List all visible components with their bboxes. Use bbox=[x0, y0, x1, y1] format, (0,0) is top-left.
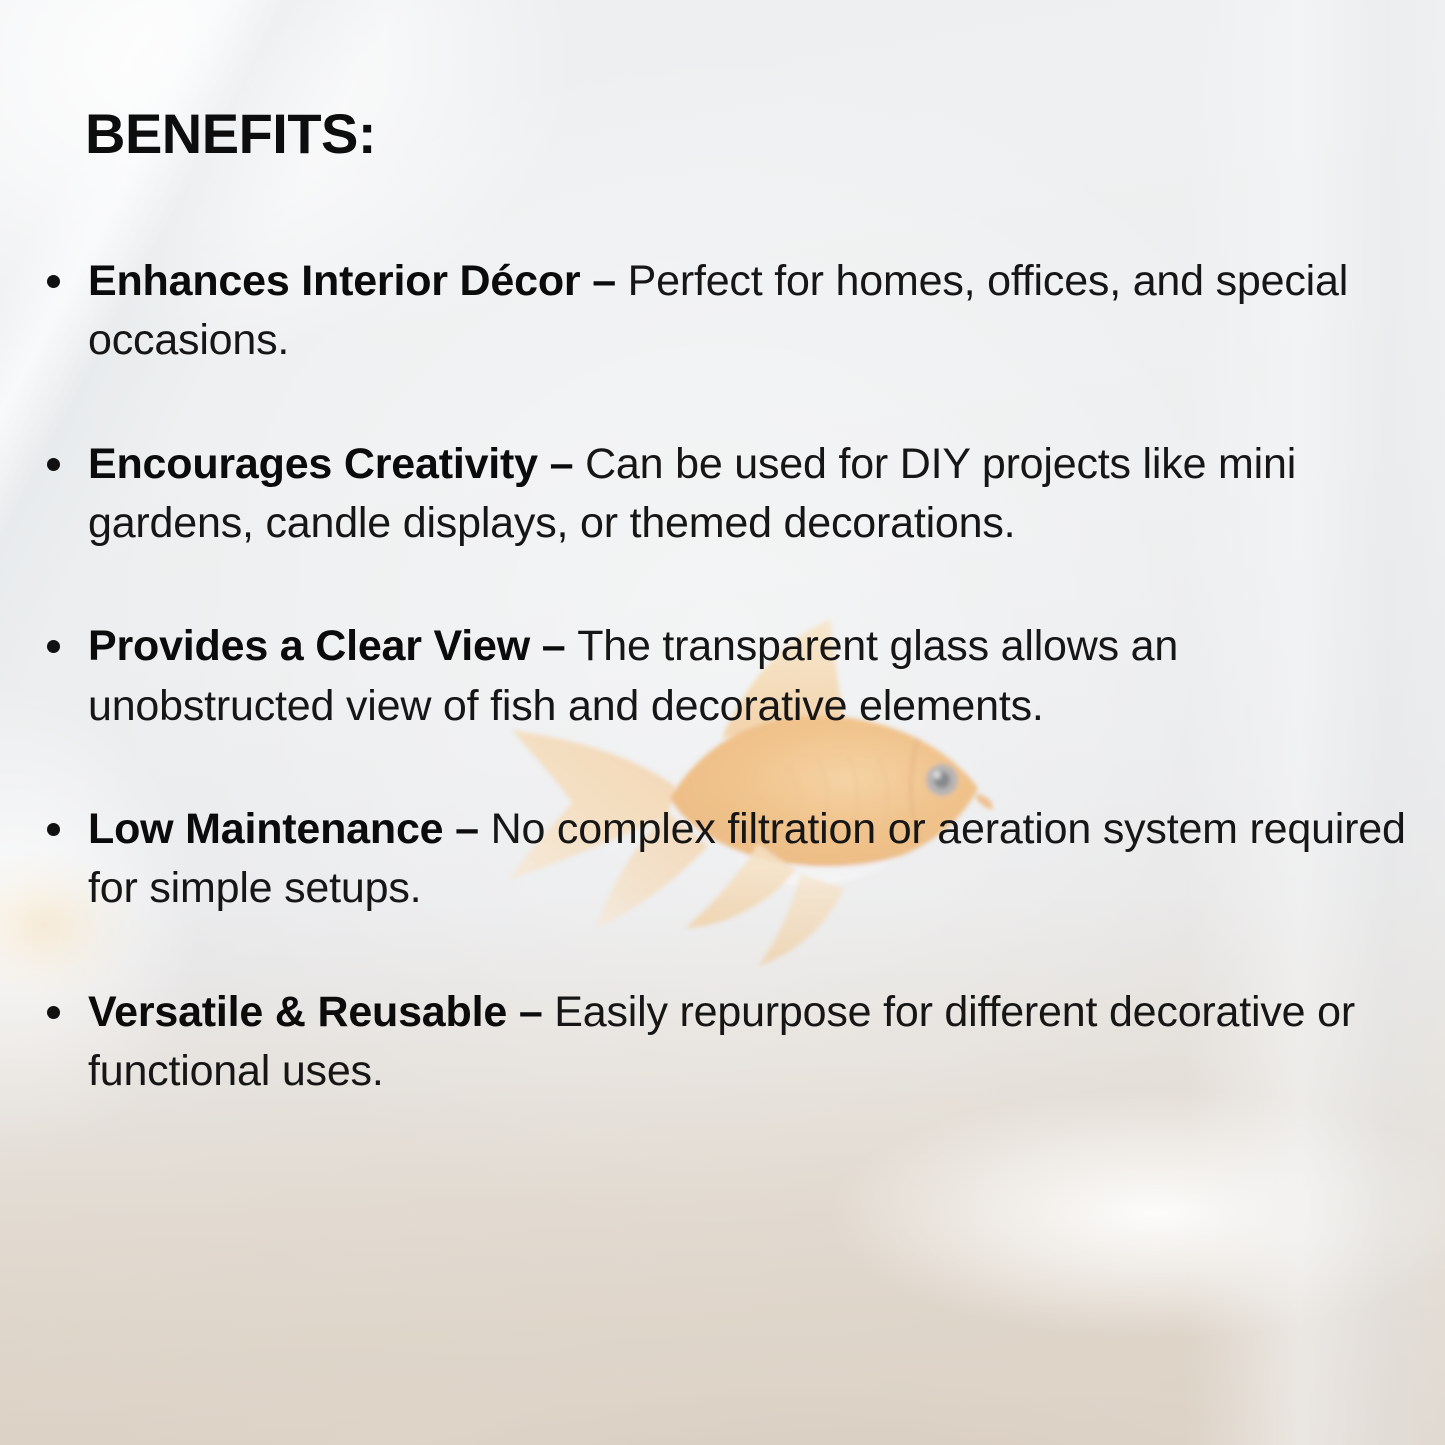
list-item: Enhances Interior Décor – Perfect for ho… bbox=[44, 252, 1424, 371]
benefit-lead: Provides a Clear View bbox=[88, 622, 542, 670]
benefit-dash: – bbox=[592, 257, 627, 305]
bullet-dot-icon bbox=[47, 1006, 60, 1019]
benefit-dash: – bbox=[455, 805, 490, 853]
benefit-dash: – bbox=[550, 440, 585, 488]
benefits-content: BENEFITS: Enhances Interior Décor – Perf… bbox=[0, 0, 1445, 1445]
bullet-dot-icon bbox=[47, 458, 60, 471]
benefit-lead: Enhances Interior Décor bbox=[88, 257, 592, 305]
benefits-list: Enhances Interior Décor – Perfect for ho… bbox=[44, 252, 1424, 1101]
list-item: Versatile & Reusable – Easily repurpose … bbox=[44, 983, 1424, 1102]
infographic-canvas: BENEFITS: Enhances Interior Décor – Perf… bbox=[0, 0, 1445, 1445]
list-item: Provides a Clear View – The transparent … bbox=[44, 617, 1424, 736]
benefit-lead: Versatile & Reusable bbox=[88, 988, 519, 1036]
benefit-dash: – bbox=[542, 622, 577, 670]
bullet-dot-icon bbox=[47, 640, 60, 653]
page-title: BENEFITS: bbox=[85, 103, 376, 165]
bullet-dot-icon bbox=[47, 275, 60, 288]
benefit-lead: Encourages Creativity bbox=[88, 440, 550, 488]
list-item: Low Maintenance – No complex filtration … bbox=[44, 800, 1424, 919]
list-item: Encourages Creativity – Can be used for … bbox=[44, 435, 1424, 554]
benefit-lead: Low Maintenance bbox=[88, 805, 455, 853]
bullet-dot-icon bbox=[47, 823, 60, 836]
benefit-dash: – bbox=[519, 988, 554, 1036]
